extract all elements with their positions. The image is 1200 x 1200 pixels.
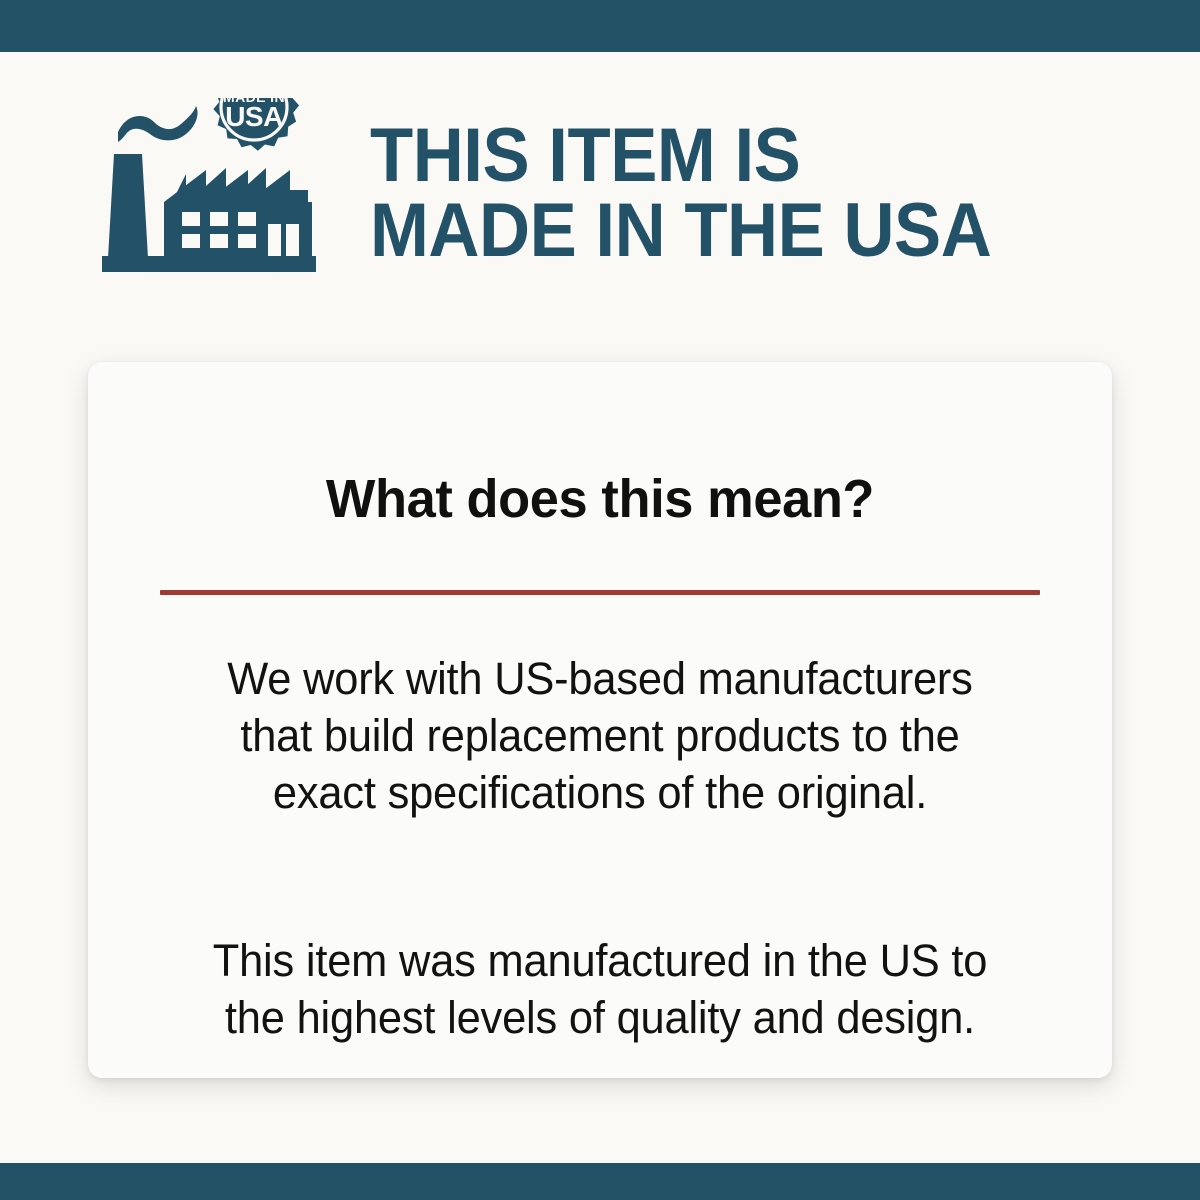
page-canvas: MADE IN USA THIS ITEM IS MADE IN THE USA… bbox=[0, 52, 1200, 1163]
info-card: What does this mean? We work with US-bas… bbox=[88, 362, 1112, 1078]
factory-base-icon bbox=[102, 256, 316, 272]
factory-window bbox=[238, 234, 256, 248]
factory-door bbox=[268, 224, 281, 256]
factory-door bbox=[286, 224, 299, 256]
smoke-plume-icon bbox=[118, 106, 198, 142]
made-in-usa-badge-icon: MADE IN USA bbox=[213, 98, 299, 151]
factory-window bbox=[182, 234, 200, 248]
paragraph-2-line-2: the highest levels of quality and design… bbox=[129, 989, 1071, 1046]
chimney-icon bbox=[108, 154, 148, 258]
paragraph-2-line-1: This item was manufactured in the US to bbox=[129, 932, 1071, 989]
bottom-accent-bar bbox=[0, 1163, 1200, 1200]
factory-window bbox=[238, 212, 256, 226]
page-title-line-1: THIS ITEM IS bbox=[370, 118, 1101, 193]
badge-line2-text: USA bbox=[225, 101, 283, 132]
factory-window bbox=[210, 212, 228, 226]
top-accent-bar bbox=[0, 0, 1200, 52]
card-paragraph-1: We work with US-based manufacturers that… bbox=[129, 650, 1071, 821]
card-title: What does this mean? bbox=[103, 468, 1096, 530]
paragraph-1-line-1: We work with US-based manufacturers bbox=[129, 650, 1071, 707]
page-title: THIS ITEM IS MADE IN THE USA bbox=[370, 118, 1101, 268]
card-paragraph-2: This item was manufactured in the US to … bbox=[129, 932, 1071, 1046]
paragraph-1-line-2: that build replacement products to the bbox=[129, 707, 1071, 764]
factory-icon: MADE IN USA bbox=[96, 98, 336, 288]
factory-window bbox=[210, 234, 228, 248]
card-divider bbox=[160, 590, 1040, 595]
page-title-line-2: MADE IN THE USA bbox=[370, 193, 1101, 268]
paragraph-1-line-3: exact specifications of the original. bbox=[129, 764, 1071, 821]
factory-window bbox=[182, 212, 200, 226]
header-banner: MADE IN USA THIS ITEM IS MADE IN THE USA bbox=[96, 98, 1156, 288]
